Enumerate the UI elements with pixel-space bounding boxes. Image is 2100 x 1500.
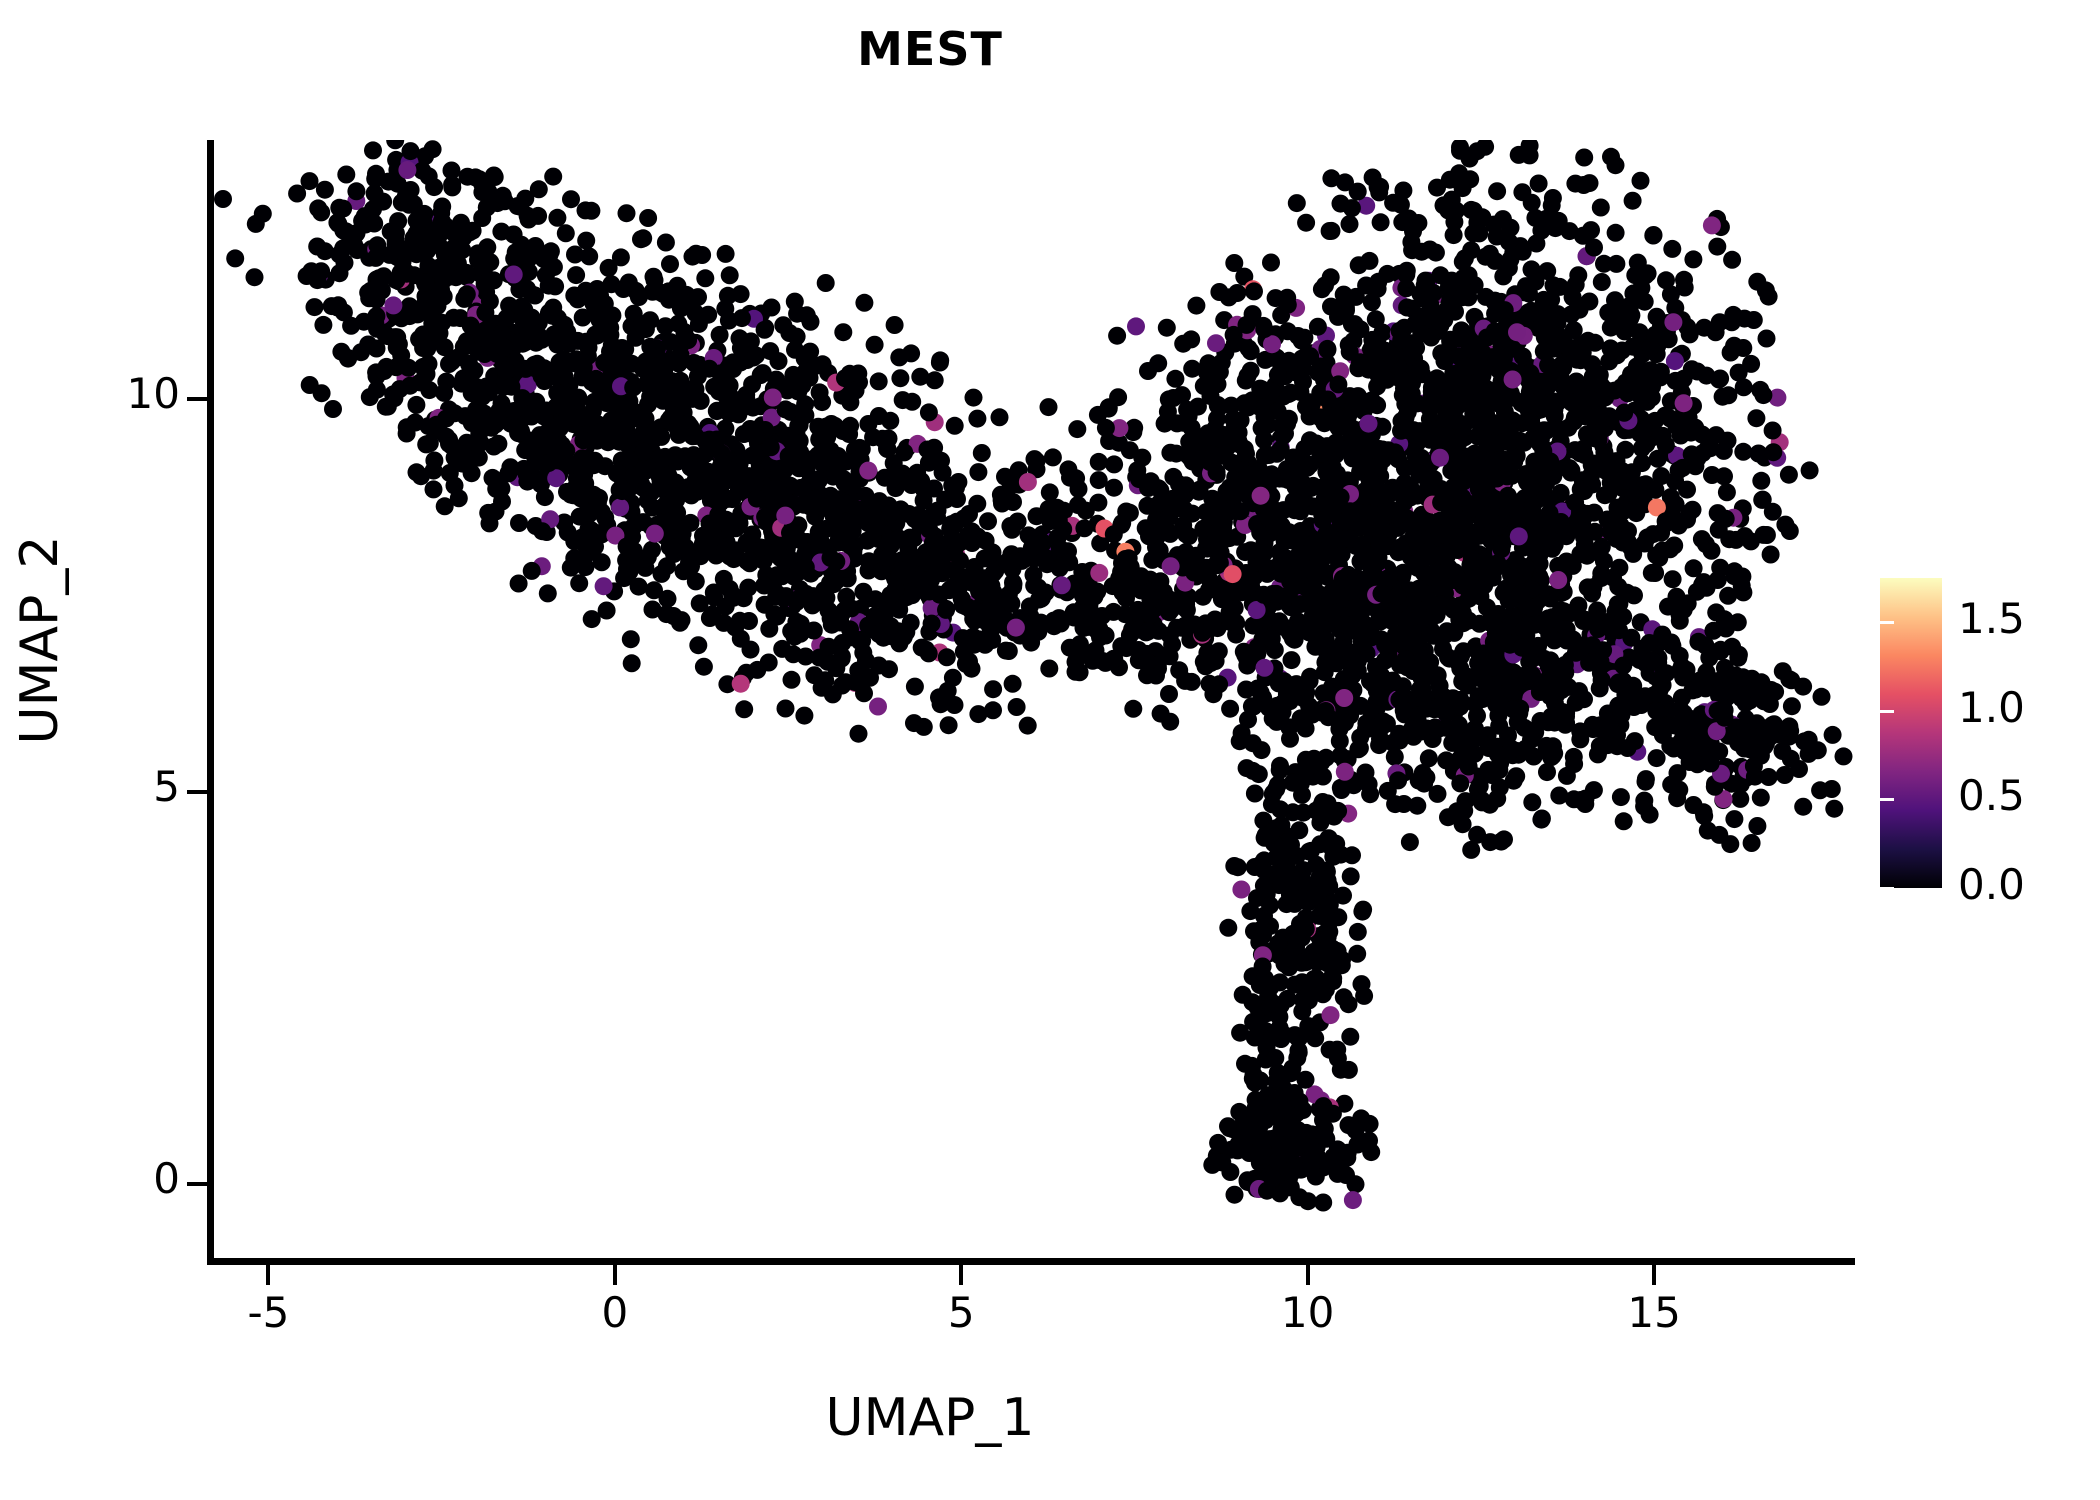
scatter-points-layer [213,140,1855,1255]
colorbar-tick-mark [1880,887,1894,890]
x-axis-spine [207,1258,1855,1265]
colorbar-tick-mark [1880,798,1894,801]
x-tick-mark [1306,1265,1310,1285]
page-title: MEST [0,22,1860,76]
y-tick-mark [187,1182,207,1186]
colorbar-tick-mark [1880,710,1894,713]
x-tick-label: 15 [1574,1288,1734,1337]
x-tick-label: 5 [881,1288,1041,1337]
colorbar-tick-mark [1866,798,1880,801]
colorbar-gradient [1880,578,1942,888]
colorbar-tick-mark [1880,621,1894,624]
x-tick-mark [959,1265,963,1285]
figure-canvas: MEST -5051015 0510 UMAP_1 UMAP_2 1.51.00… [0,0,2100,1500]
x-tick-mark [613,1265,617,1285]
x-tick-label: 10 [1228,1288,1388,1337]
x-tick-label: 0 [535,1288,695,1337]
scatter-plot-area [213,140,1855,1255]
y-tick-label: 0 [20,1154,180,1203]
colorbar-tick-mark [1866,710,1880,713]
y-tick-mark [187,790,207,794]
colorbar-tick-label: 1.5 [1958,594,2025,643]
colorbar-tick-mark [1866,621,1880,624]
y-tick-mark [187,397,207,401]
x-tick-mark [266,1265,270,1285]
colorbar-tick-mark [1866,887,1880,890]
x-tick-mark [1652,1265,1656,1285]
x-tick-label: -5 [188,1288,348,1337]
x-axis-label: UMAP_1 [0,1388,1860,1448]
colorbar-tick-label: 0.0 [1958,860,2025,909]
colorbar-tick-label: 1.0 [1958,683,2025,732]
y-axis-label: UMAP_2 [10,340,70,940]
colorbar-tick-label: 0.5 [1958,771,2025,820]
